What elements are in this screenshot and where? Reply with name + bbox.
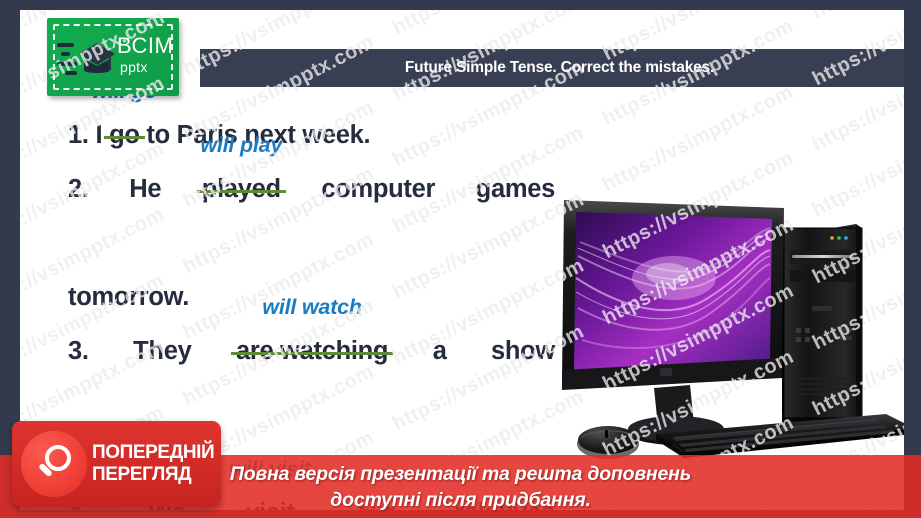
slide-frame: Future Simple Tense. Correct the mistake…	[0, 0, 921, 518]
logo-subtitle: pptx	[120, 60, 148, 74]
exercise-line-2: 2. He playedwill play computer games	[68, 162, 555, 270]
graduation-cap-speed-icon	[57, 32, 115, 82]
slide-header-bar: Future Simple Tense. Correct the mistake…	[200, 49, 904, 87]
exercise-line-1: 1. I gowill go to Paris next week.	[68, 108, 555, 162]
line-2-mistake-group: playedwill play	[202, 162, 281, 216]
line-2-correction: will play	[200, 135, 282, 157]
desktop-computer-illustration	[556, 182, 904, 472]
line-3-mistake: are watching	[236, 337, 388, 365]
exercise-line-3: 3. They are watchingwill watch a show	[68, 324, 555, 432]
magnifier-icon	[21, 431, 87, 497]
logo-name: ВСІМ	[117, 35, 173, 57]
vsimpptx-logo[interactable]: ВСІМ pptx	[47, 18, 179, 96]
line-2-number: 2.	[68, 175, 89, 203]
preview-badge-line-2: ПЕРЕГЛЯД	[92, 464, 215, 486]
monitor	[562, 200, 784, 445]
line-2-before: He	[129, 175, 161, 203]
tower-case	[782, 224, 862, 434]
line-1-number: 1.	[68, 121, 89, 149]
line-2-after: computer games	[321, 175, 555, 203]
line-3-before: They	[133, 337, 191, 365]
line-2-tail: tomorrow.	[68, 283, 189, 311]
line-2-strikethrough	[197, 190, 286, 193]
line-1-before: I	[95, 121, 102, 149]
line-3-after: a show	[433, 337, 555, 365]
line-3-strikethrough	[231, 352, 393, 355]
line-1-strikethrough	[104, 136, 145, 139]
line-2-mistake: played	[202, 175, 281, 203]
preview-badge-labels: ПОПЕРЕДНІЙ ПЕРЕГЛЯД	[87, 442, 221, 486]
line-1-mistake-group: gowill go	[109, 108, 140, 162]
preview-badge-line-1: ПОПЕРЕДНІЙ	[92, 442, 215, 464]
purchase-overlay-line-1: Повна версія презентації та решта доповн…	[230, 461, 691, 487]
preview-badge[interactable]: ПОПЕРЕДНІЙ ПЕРЕГЛЯД	[12, 421, 221, 507]
purchase-overlay-line-2: доступні після придбання.	[330, 487, 590, 513]
line-3-correction: will watch	[262, 297, 362, 319]
line-3-number: 3.	[68, 337, 89, 365]
page-title: Future Simple Tense. Correct the mistake…	[405, 59, 714, 77]
line-3-mistake-group: are watchingwill watch	[236, 324, 388, 378]
line-1-mistake: go	[109, 121, 140, 149]
